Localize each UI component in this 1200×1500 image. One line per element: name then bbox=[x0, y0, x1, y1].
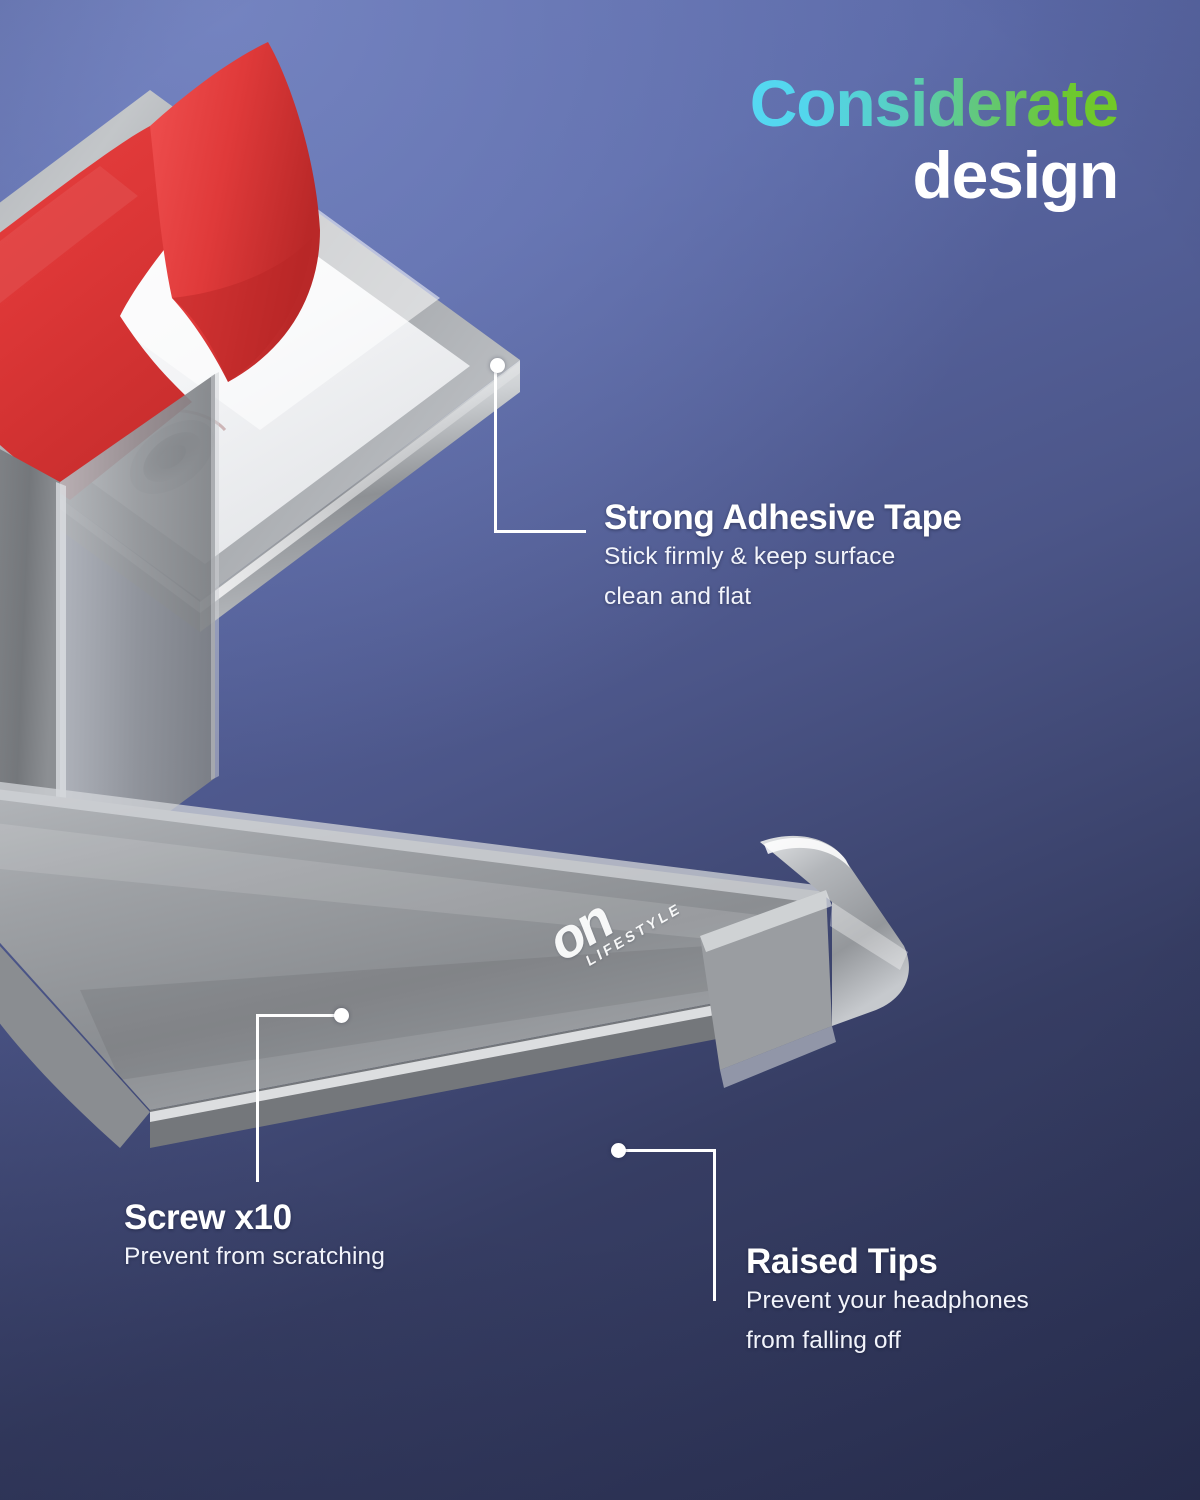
leader-segment-horizontal bbox=[256, 1014, 342, 1017]
callout-subtitle-line-1: Prevent your headphones bbox=[746, 1281, 1029, 1321]
callout-subtitle-line-2: clean and flat bbox=[604, 577, 962, 617]
leader-dot-screw bbox=[334, 1008, 349, 1023]
headline-line-1: Considerate bbox=[750, 70, 1118, 137]
callout-screw: Screw x10 Prevent from scratching bbox=[124, 1198, 385, 1277]
callout-subtitle-line-1: Prevent from scratching bbox=[124, 1237, 385, 1277]
headline-line-2: design bbox=[750, 139, 1118, 213]
callout-title: Strong Adhesive Tape bbox=[604, 498, 962, 537]
leader-dot-raised-tips bbox=[611, 1143, 626, 1158]
callout-adhesive-tape: Strong Adhesive Tape Stick firmly & keep… bbox=[604, 498, 962, 617]
leader-dot-adhesive-tape bbox=[490, 358, 505, 373]
leader-segment-vertical bbox=[713, 1149, 716, 1301]
leader-segment-horizontal bbox=[625, 1149, 716, 1152]
callout-title: Screw x10 bbox=[124, 1198, 385, 1237]
callout-subtitle-line-1: Stick firmly & keep surface bbox=[604, 537, 962, 577]
callout-raised-tips: Raised Tips Prevent your headphones from… bbox=[746, 1242, 1029, 1361]
callout-subtitle-line-2: from falling off bbox=[746, 1321, 1029, 1361]
product-feature-graphic: on LIFESTYLE Considerate design Strong A… bbox=[0, 0, 1200, 1500]
headline: Considerate design bbox=[750, 70, 1118, 213]
leader-segment-vertical bbox=[494, 372, 497, 533]
callout-title: Raised Tips bbox=[746, 1242, 1029, 1281]
leader-segment-horizontal bbox=[494, 530, 586, 533]
leader-segment-vertical bbox=[256, 1014, 259, 1182]
